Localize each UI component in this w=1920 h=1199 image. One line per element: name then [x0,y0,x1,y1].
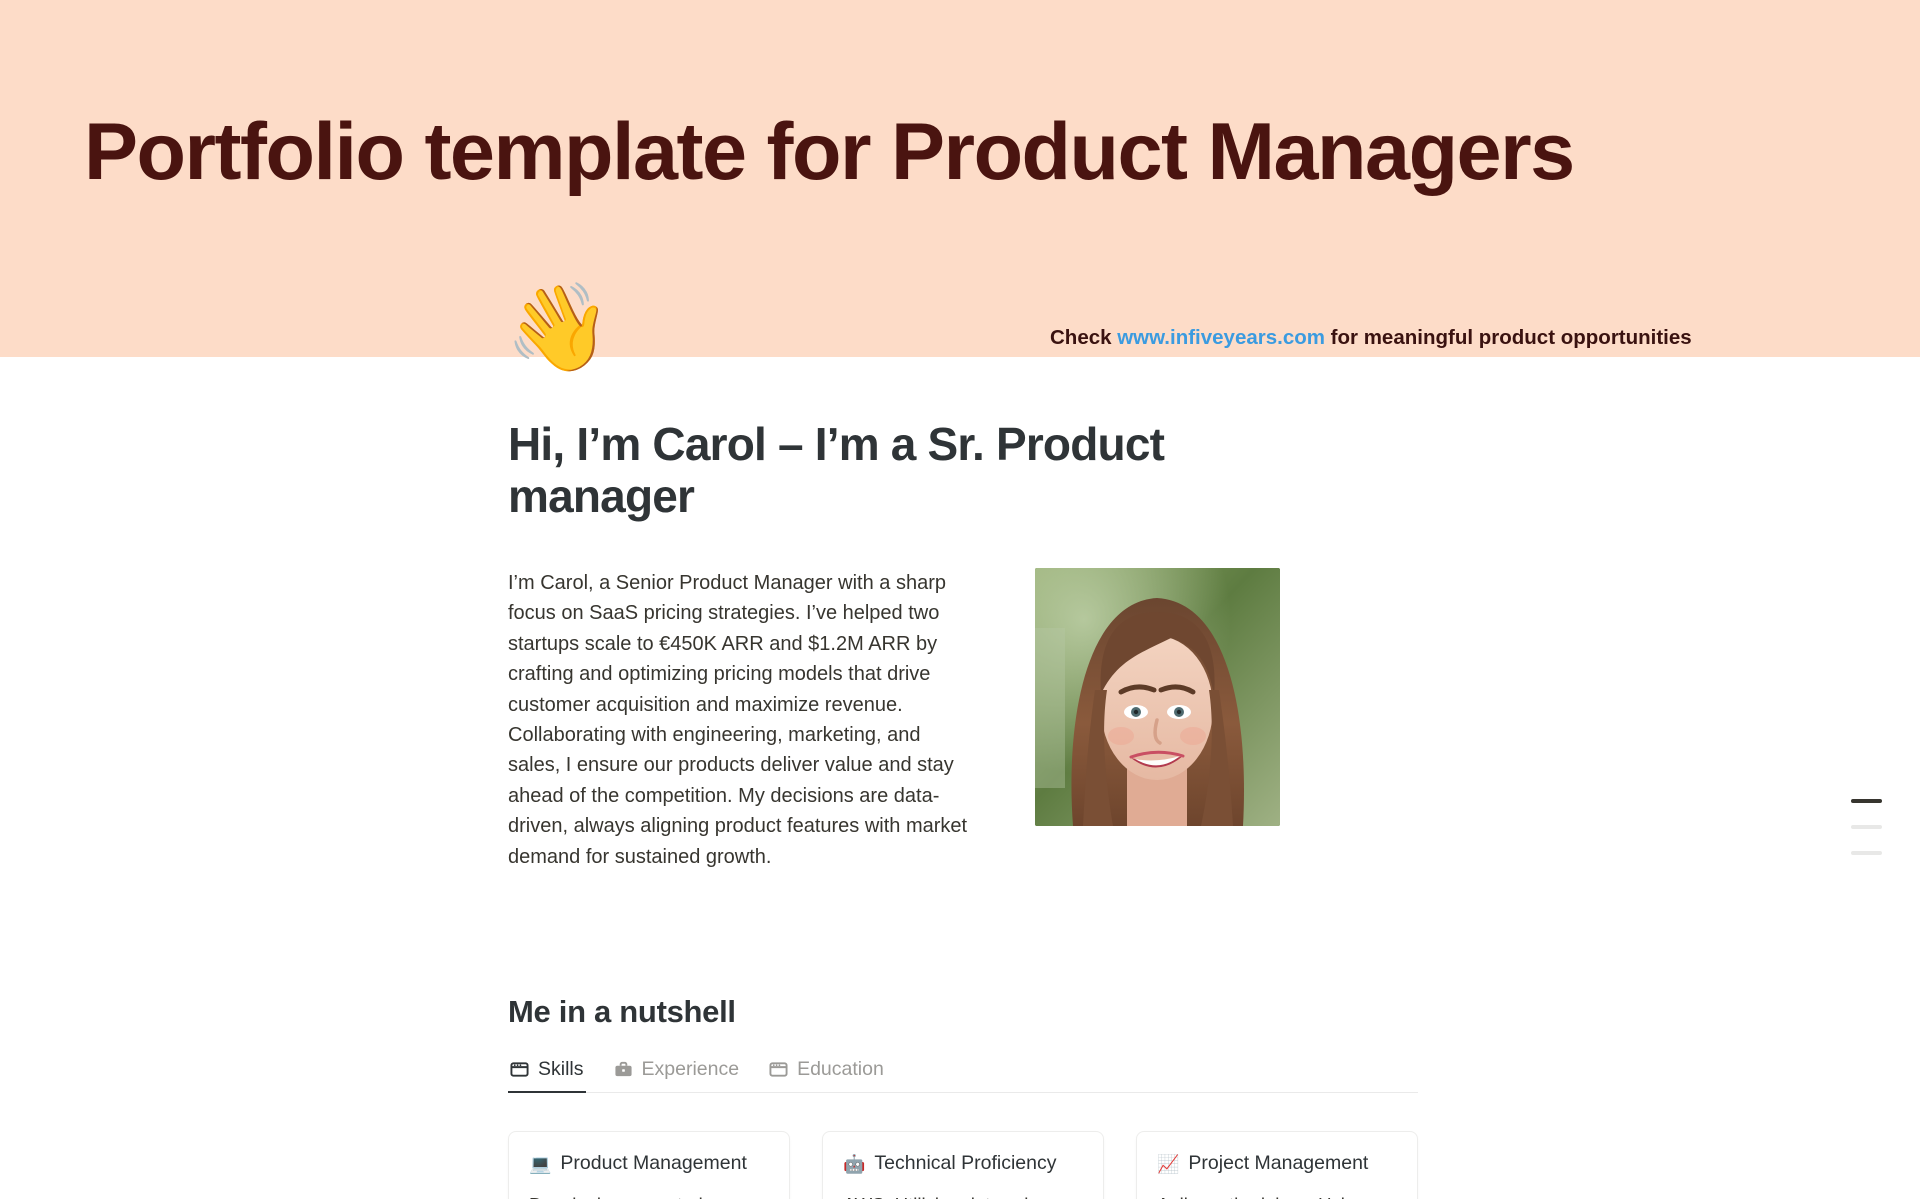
skill-card-body: Agile methodology, Using project [1157,1191,1397,1199]
section-indicator-dash-3[interactable] [1851,851,1882,855]
tab-skills-label: Skills [538,1058,584,1081]
hero-banner: Portfolio template for Product Managers … [0,0,1920,357]
skill-card[interactable]: 🤖 Technical Proficiency AWS, Utilizing d… [822,1131,1104,1199]
skill-card-header: 📈 Project Management [1157,1152,1397,1175]
promo-suffix: for meaningful product opportunities [1325,326,1692,349]
promo-website-link[interactable]: www.infiveyears.com [1117,326,1325,349]
skill-card-title: Product Management [560,1152,746,1175]
section-indicator-dash-1[interactable] [1851,799,1882,803]
tab-experience-label: Experience [642,1058,740,1081]
skill-card-body: Developing user stories, [529,1191,769,1199]
tab-skills[interactable]: Skills [508,1058,586,1092]
intro-paragraph: I’m Carol, a Senior Product Manager with… [508,568,970,872]
nutshell-tabs: Skills Experience Education [508,1058,1418,1093]
section-indicator[interactable] [1851,799,1882,855]
tab-education[interactable]: Education [767,1058,886,1092]
skill-cards: 💻 Product Management Developing user sto… [508,1131,1418,1199]
skill-card-body: AWS, Utilizing data science tools [843,1191,1083,1199]
chart-increasing-icon: 📈 [1157,1155,1179,1173]
skill-card-title: Project Management [1188,1152,1368,1175]
intro-heading: Hi, I’m Carol – I’m a Sr. Product manage… [508,419,1298,522]
robot-icon: 🤖 [843,1155,865,1173]
briefcase-icon [614,1060,633,1079]
waving-hand-icon: 👋 [505,285,612,371]
skill-card[interactable]: 💻 Product Management Developing user sto… [508,1131,790,1199]
page-body: Hi, I’m Carol – I’m a Sr. Product manage… [0,357,1920,1199]
skill-card-header: 🤖 Technical Proficiency [843,1152,1083,1175]
avatar [1035,568,1280,826]
promo-prefix: Check [1050,326,1117,349]
window-icon [510,1060,529,1079]
nutshell-heading: Me in a nutshell [508,994,1418,1030]
laptop-icon: 💻 [529,1155,551,1173]
section-indicator-dash-2[interactable] [1851,825,1882,829]
tab-experience[interactable]: Experience [612,1058,742,1092]
promo-banner: Check www.infiveyears.com for meaningful… [1050,328,1692,349]
skill-card-header: 💻 Product Management [529,1152,769,1175]
window-icon [769,1060,788,1079]
skill-card[interactable]: 📈 Project Management Agile methodology, … [1136,1131,1418,1199]
intro-section: I’m Carol, a Senior Product Manager with… [508,568,1418,872]
tab-education-label: Education [797,1058,884,1081]
page-title: Portfolio template for Product Managers [84,112,1574,193]
skill-card-title: Technical Proficiency [874,1152,1056,1175]
content-column: Hi, I’m Carol – I’m a Sr. Product manage… [508,357,1418,1199]
